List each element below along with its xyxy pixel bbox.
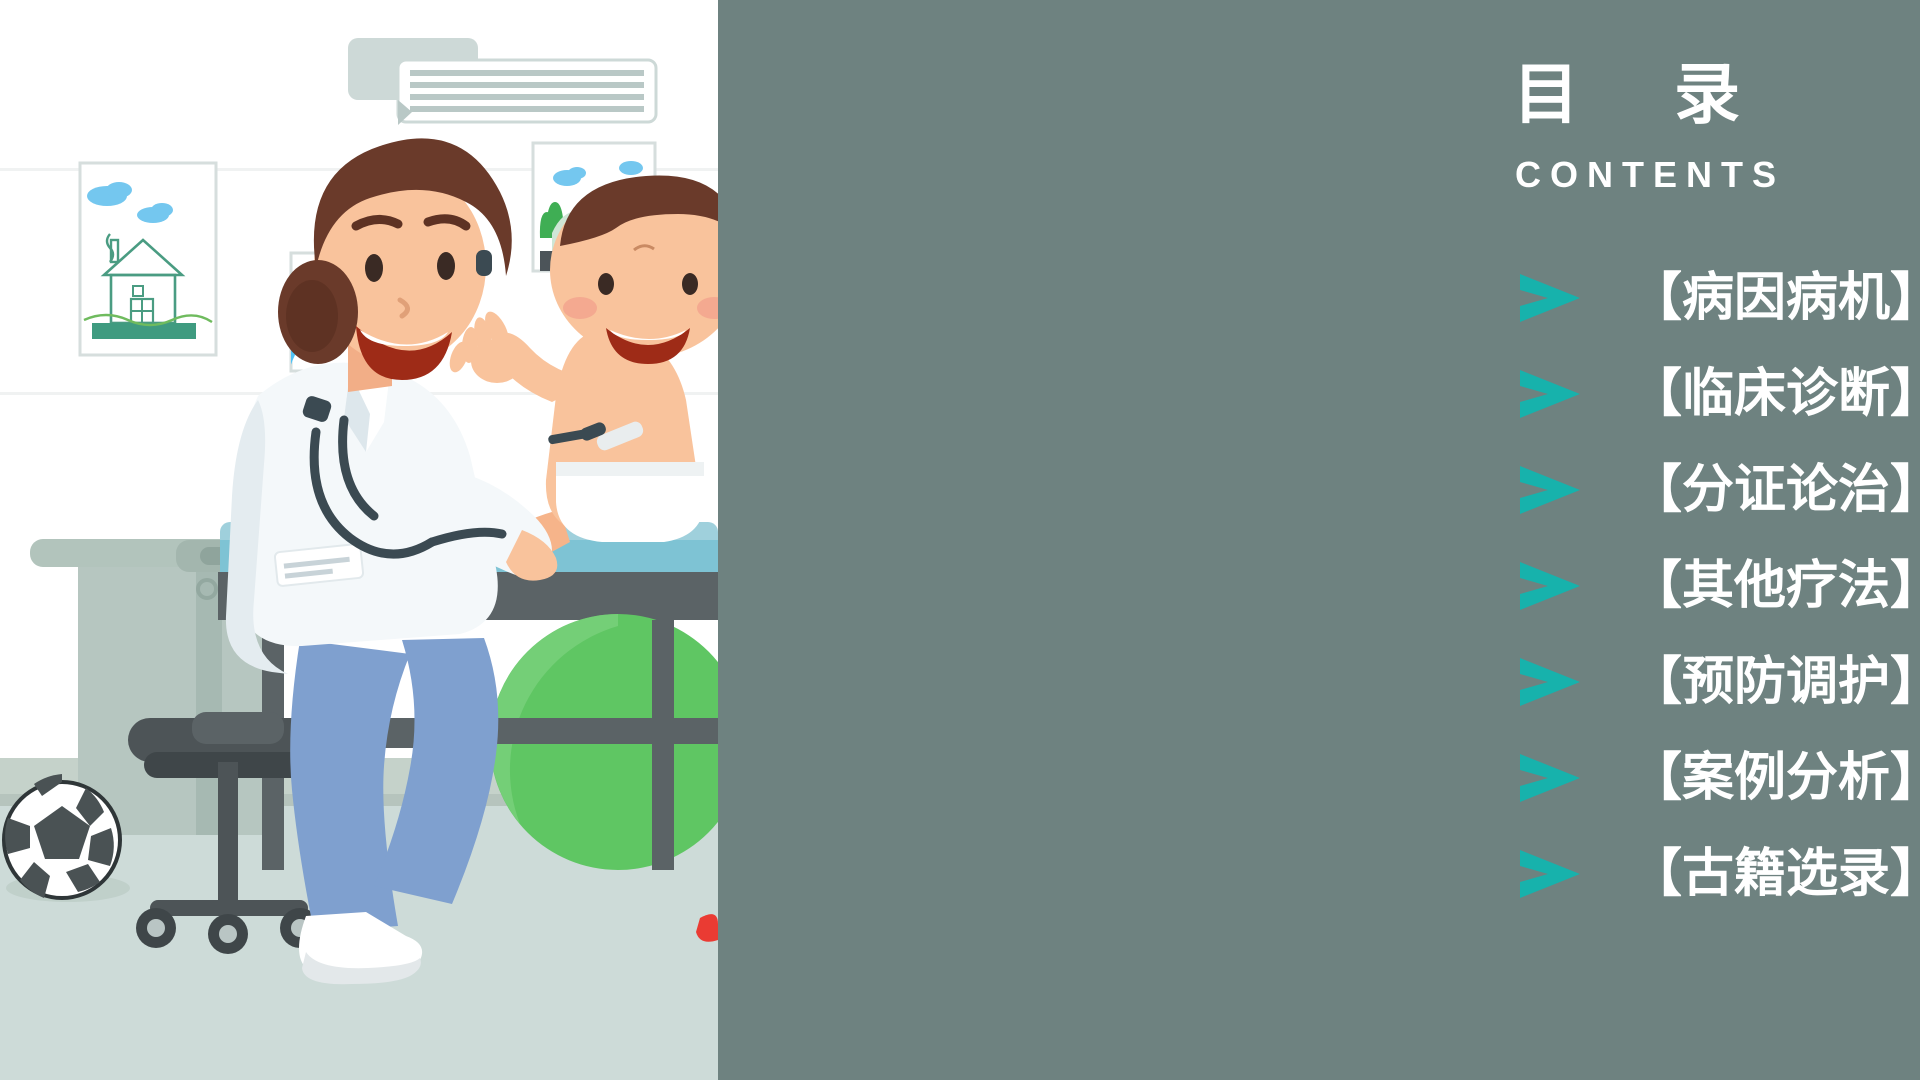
toc-item-4[interactable]: 【其他疗法】 — [1518, 538, 1920, 634]
toc-item-7[interactable]: 【古籍选录】 — [1518, 826, 1920, 922]
play-arrow-icon — [1518, 752, 1582, 804]
play-arrow-icon — [1518, 368, 1582, 420]
play-arrow-icon — [1518, 560, 1582, 612]
toc-item-label: 【预防调护】 — [1630, 656, 1920, 708]
page-subtitle: CONTENTS — [1515, 157, 1785, 193]
play-arrow-icon — [1518, 272, 1582, 324]
toc-item-label: 【病因病机】 — [1630, 272, 1920, 324]
toc-item-label: 【案例分析】 — [1630, 752, 1920, 804]
toc-item-6[interactable]: 【案例分析】 — [1518, 730, 1920, 826]
play-arrow-icon — [1518, 656, 1582, 708]
toc-item-label: 【临床诊断】 — [1630, 368, 1920, 420]
toc-item-2[interactable]: 【临床诊断】 — [1518, 346, 1920, 442]
play-arrow-icon — [1518, 464, 1582, 516]
table-of-contents: 【病因病机】 【临床诊断】 【分证论治】 — [1518, 250, 1920, 922]
child-drawing-house — [80, 163, 216, 355]
slide-root: 目 录 CONTENTS 【病因病机】 【临床诊断】 — [0, 0, 1920, 1080]
page-title: 目 录 — [1513, 62, 1776, 128]
toc-item-label: 【其他疗法】 — [1630, 560, 1920, 612]
contents-panel: 目 录 CONTENTS 【病因病机】 【临床诊断】 — [718, 0, 1920, 1080]
toc-item-3[interactable]: 【分证论治】 — [1518, 442, 1920, 538]
toc-item-1[interactable]: 【病因病机】 — [1518, 250, 1920, 346]
clinic-illustration — [0, 0, 718, 1080]
play-arrow-icon — [1518, 848, 1582, 900]
toc-item-label: 【古籍选录】 — [1630, 848, 1920, 900]
toc-item-label: 【分证论治】 — [1630, 464, 1920, 516]
toc-item-5[interactable]: 【预防调护】 — [1518, 634, 1920, 730]
